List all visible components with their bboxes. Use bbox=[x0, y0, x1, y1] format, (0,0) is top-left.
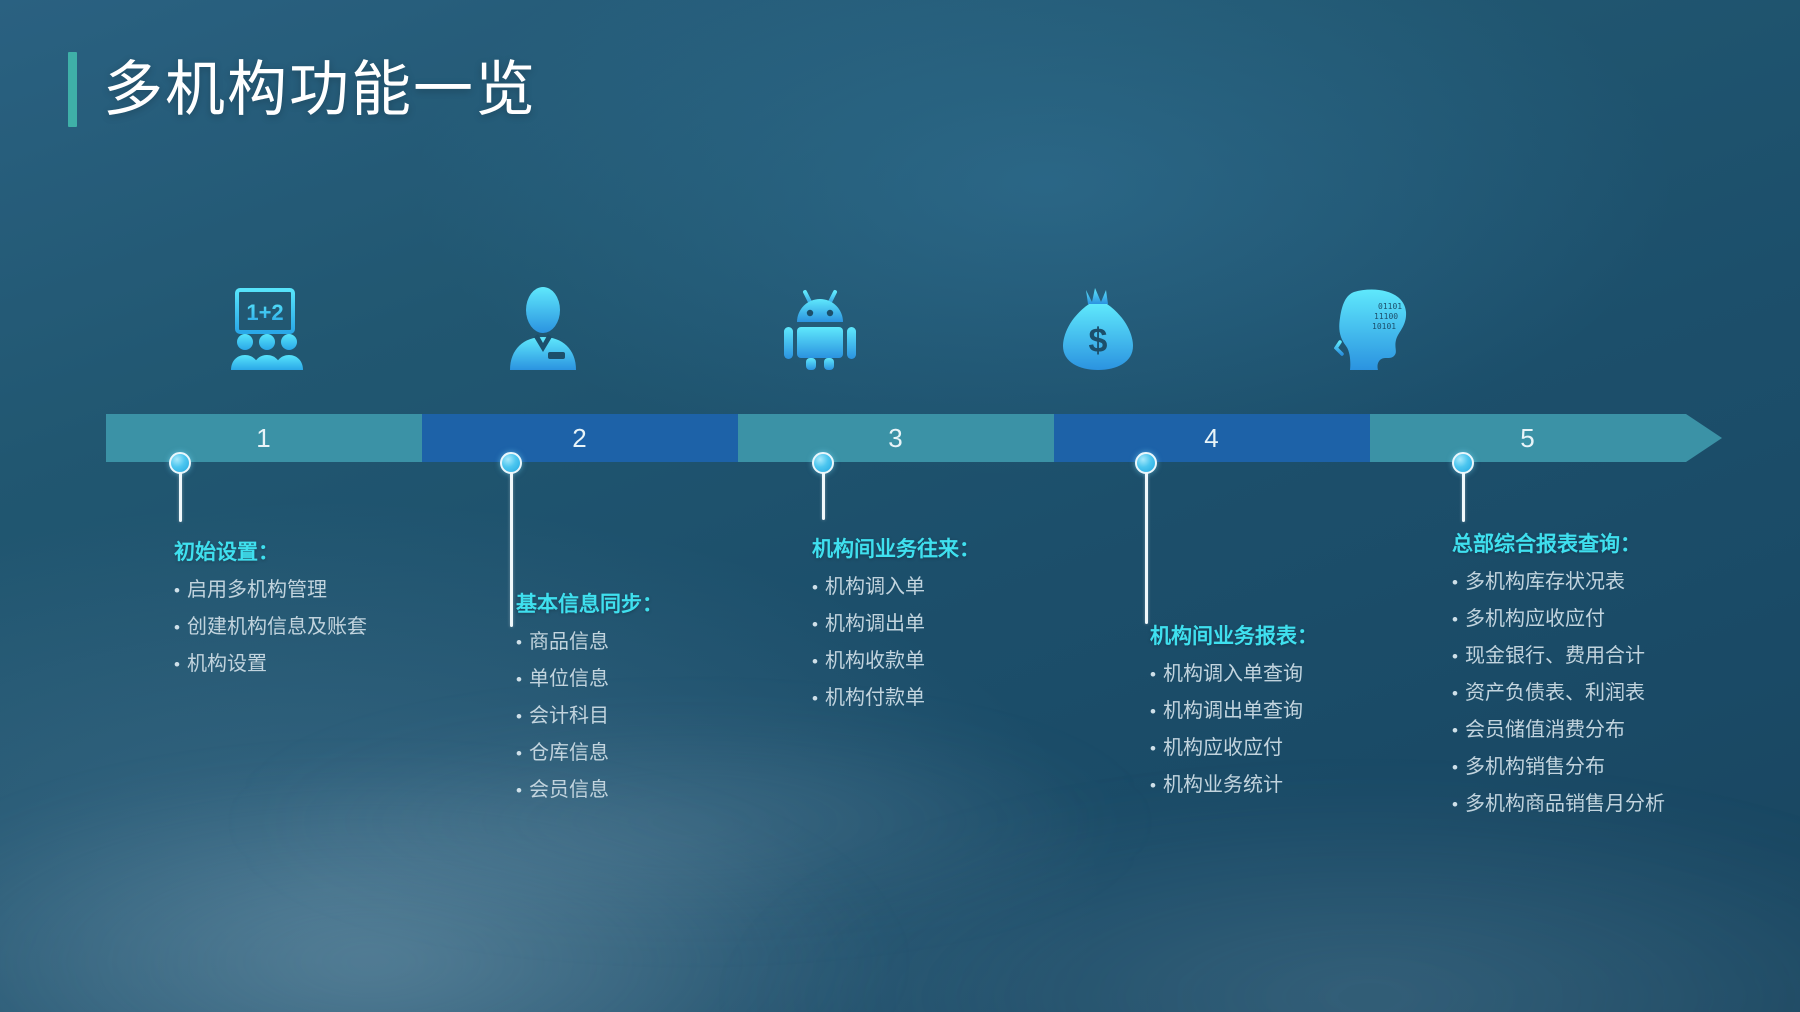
column-2: 基本信息同步： •商品信息 •单位信息 •会计科目 •仓库信息 •会员信息 bbox=[516, 588, 663, 817]
bullet-icon: • bbox=[1150, 703, 1156, 720]
list-item-label: 单位信息 bbox=[529, 669, 609, 689]
binary-head-ai-icon: 01101 11100 10101 bbox=[1334, 286, 1416, 370]
column-1: 初始设置： •启用多机构管理 •创建机构信息及账套 •机构设置 bbox=[174, 536, 367, 691]
list-item-label: 机构调出单查询 bbox=[1163, 701, 1303, 721]
list-item-label: 商品信息 bbox=[529, 632, 609, 652]
segment-number: 3 bbox=[888, 423, 903, 454]
bullet-icon: • bbox=[812, 616, 818, 633]
list-item-label: 机构调入单 bbox=[825, 577, 925, 597]
list-item-label: 启用多机构管理 bbox=[187, 580, 327, 600]
page-title: 多机构功能一览 bbox=[68, 52, 547, 127]
timeline-segment-3[interactable]: 3 bbox=[738, 414, 1054, 462]
column-3: 机构间业务往来： •机构调入单 •机构调出单 •机构收款单 •机构付款单 bbox=[812, 533, 980, 725]
list-item-label: 会计科目 bbox=[529, 706, 609, 726]
list-item-label: 机构调出单 bbox=[825, 614, 925, 634]
list-item: •机构调入单查询 bbox=[1150, 664, 1318, 684]
list-item-label: 机构付款单 bbox=[825, 688, 925, 708]
connector-dot bbox=[169, 452, 191, 474]
bullet-icon: • bbox=[812, 579, 818, 596]
list-item-label: 资产负债表、利润表 bbox=[1465, 683, 1645, 703]
list-item-label: 会员储值消费分布 bbox=[1465, 720, 1625, 740]
cloud-haze-left bbox=[0, 752, 920, 1012]
bullet-icon: • bbox=[812, 653, 818, 670]
bullet-icon: • bbox=[1150, 740, 1156, 757]
list-item: •机构调入单 bbox=[812, 577, 980, 597]
connector-dot bbox=[812, 452, 834, 474]
bullet-icon: • bbox=[1452, 648, 1458, 665]
list-item-label: 多机构销售分布 bbox=[1465, 757, 1605, 777]
list-item: •现金银行、费用合计 bbox=[1452, 646, 1665, 666]
column-heading: 机构间业务报表： bbox=[1150, 620, 1318, 650]
list-item: •机构收款单 bbox=[812, 651, 980, 671]
title-accent-bar bbox=[68, 52, 77, 127]
list-item: •机构应收应付 bbox=[1150, 738, 1318, 758]
list-item: •会员储值消费分布 bbox=[1452, 720, 1665, 740]
bullet-icon: • bbox=[1452, 759, 1458, 776]
list-item: •会计科目 bbox=[516, 706, 663, 726]
column-list: •启用多机构管理 •创建机构信息及账套 •机构设置 bbox=[174, 580, 367, 674]
businessperson-icon bbox=[504, 286, 582, 370]
connector-line bbox=[822, 472, 825, 520]
connector-line bbox=[179, 472, 182, 522]
list-item: •单位信息 bbox=[516, 669, 663, 689]
bullet-icon: • bbox=[516, 782, 522, 799]
blackboard-1plus2-icon: 1+2 bbox=[215, 286, 315, 370]
list-item-label: 机构收款单 bbox=[825, 651, 925, 671]
bullet-icon: • bbox=[1452, 574, 1458, 591]
list-item: •多机构销售分布 bbox=[1452, 757, 1665, 777]
list-item-label: 多机构库存状况表 bbox=[1465, 572, 1625, 592]
list-item-label: 多机构商品销售月分析 bbox=[1465, 794, 1665, 814]
android-robot-icon bbox=[781, 286, 859, 370]
bullet-icon: • bbox=[1452, 796, 1458, 813]
bullet-icon: • bbox=[174, 582, 180, 599]
timeline-bar: 1 2 3 4 5 bbox=[106, 414, 1686, 462]
list-item: •启用多机构管理 bbox=[174, 580, 367, 600]
bullet-icon: • bbox=[516, 745, 522, 762]
list-item: •机构设置 bbox=[174, 654, 367, 674]
list-item-label: 仓库信息 bbox=[529, 743, 609, 763]
connector-line bbox=[1145, 472, 1148, 624]
bullet-icon: • bbox=[516, 708, 522, 725]
list-item: •创建机构信息及账套 bbox=[174, 617, 367, 637]
bullet-icon: • bbox=[812, 690, 818, 707]
svg-text:11100: 11100 bbox=[1374, 312, 1398, 321]
icon-slot-2 bbox=[483, 280, 603, 370]
timeline-segment-4[interactable]: 4 bbox=[1054, 414, 1370, 462]
bullet-icon: • bbox=[1452, 611, 1458, 628]
column-heading: 初始设置： bbox=[174, 536, 367, 566]
bullet-icon: • bbox=[1452, 685, 1458, 702]
list-item-label: 创建机构信息及账套 bbox=[187, 617, 367, 637]
timeline-arrow-tip bbox=[1686, 414, 1722, 462]
column-heading: 机构间业务往来： bbox=[812, 533, 980, 563]
bullet-icon: • bbox=[1452, 722, 1458, 739]
icon-slot-5: 01101 11100 10101 bbox=[1315, 280, 1435, 370]
icon-slot-3 bbox=[760, 280, 880, 370]
connector-line bbox=[1462, 472, 1465, 522]
column-list: •商品信息 •单位信息 •会计科目 •仓库信息 •会员信息 bbox=[516, 632, 663, 800]
svg-text:1+2: 1+2 bbox=[246, 300, 283, 325]
bullet-icon: • bbox=[174, 656, 180, 673]
list-item-label: 机构应收应付 bbox=[1163, 738, 1283, 758]
column-4: 机构间业务报表： •机构调入单查询 •机构调出单查询 •机构应收应付 •机构业务… bbox=[1150, 620, 1318, 812]
bullet-icon: • bbox=[516, 671, 522, 688]
svg-text:01101: 01101 bbox=[1378, 302, 1402, 311]
list-item: •多机构库存状况表 bbox=[1452, 572, 1665, 592]
list-item: •资产负债表、利润表 bbox=[1452, 683, 1665, 703]
timeline-segment-5[interactable]: 5 bbox=[1370, 414, 1686, 462]
bullet-icon: • bbox=[174, 619, 180, 636]
segment-number: 2 bbox=[572, 423, 587, 454]
column-heading: 基本信息同步： bbox=[516, 588, 663, 618]
title-text: 多机构功能一览 bbox=[103, 52, 547, 127]
list-item-label: 现金银行、费用合计 bbox=[1465, 646, 1645, 666]
list-item: •商品信息 bbox=[516, 632, 663, 652]
column-list: •机构调入单查询 •机构调出单查询 •机构应收应付 •机构业务统计 bbox=[1150, 664, 1318, 795]
column-list: •机构调入单 •机构调出单 •机构收款单 •机构付款单 bbox=[812, 577, 980, 708]
list-item: •多机构商品销售月分析 bbox=[1452, 794, 1665, 814]
list-item-label: 机构调入单查询 bbox=[1163, 664, 1303, 684]
list-item: •会员信息 bbox=[516, 780, 663, 800]
list-item: •多机构应收应付 bbox=[1452, 609, 1665, 629]
svg-text:$: $ bbox=[1089, 322, 1108, 360]
list-item: •机构业务统计 bbox=[1150, 775, 1318, 795]
connector-dot bbox=[500, 452, 522, 474]
list-item-label: 多机构应收应付 bbox=[1465, 609, 1605, 629]
icon-slot-4: $ bbox=[1038, 280, 1158, 370]
column-heading: 总部综合报表查询： bbox=[1452, 528, 1665, 558]
svg-text:10101: 10101 bbox=[1372, 322, 1396, 331]
list-item-label: 机构业务统计 bbox=[1163, 775, 1283, 795]
connector-dot bbox=[1135, 452, 1157, 474]
list-item-label: 机构设置 bbox=[187, 654, 267, 674]
bullet-icon: • bbox=[1150, 777, 1156, 794]
bullet-icon: • bbox=[516, 634, 522, 651]
connector-dot bbox=[1452, 452, 1474, 474]
timeline-segment-1[interactable]: 1 bbox=[106, 414, 422, 462]
slide-canvas: 多机构功能一览 1+2 bbox=[0, 0, 1800, 1012]
list-item-label: 会员信息 bbox=[529, 780, 609, 800]
segment-number: 5 bbox=[1520, 423, 1535, 454]
column-list: •多机构库存状况表 •多机构应收应付 •现金银行、费用合计 •资产负债表、利润表… bbox=[1452, 572, 1665, 814]
timeline-segment-2[interactable]: 2 bbox=[422, 414, 738, 462]
list-item: •机构付款单 bbox=[812, 688, 980, 708]
connector-line bbox=[510, 472, 513, 627]
list-item: •机构调出单 bbox=[812, 614, 980, 634]
cloud-haze-center bbox=[240, 712, 1140, 932]
list-item: •仓库信息 bbox=[516, 743, 663, 763]
bullet-icon: • bbox=[1150, 666, 1156, 683]
segment-number: 4 bbox=[1204, 423, 1219, 454]
list-item: •机构调出单查询 bbox=[1150, 701, 1318, 721]
column-5: 总部综合报表查询： •多机构库存状况表 •多机构应收应付 •现金银行、费用合计 … bbox=[1452, 528, 1665, 831]
segment-number: 1 bbox=[256, 423, 271, 454]
icon-slot-1: 1+2 bbox=[205, 280, 325, 370]
money-bag-dollar-icon: $ bbox=[1059, 286, 1137, 370]
